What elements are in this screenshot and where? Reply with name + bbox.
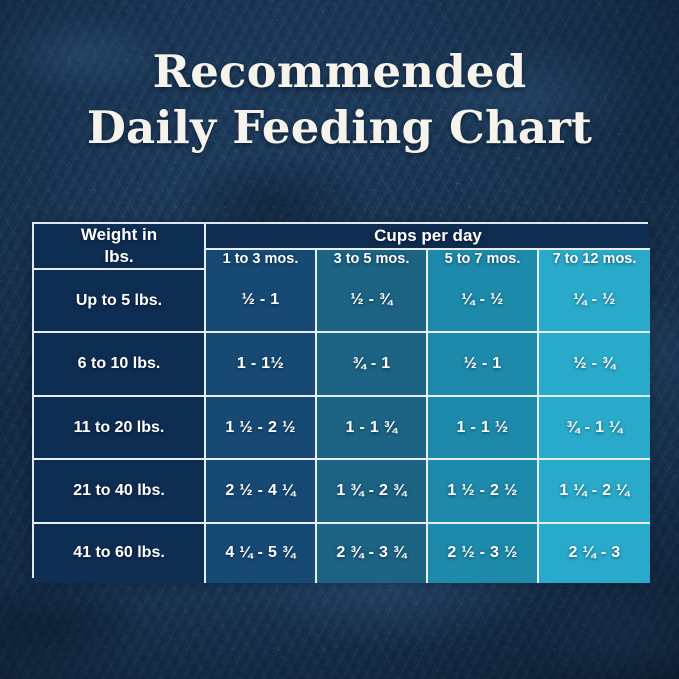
header-month-3-to-5: 3 to 5 mos.	[316, 249, 427, 269]
cell-cups: 1 - 1 ½	[427, 396, 538, 459]
table-row: 41 to 60 lbs. 4 ¼ - 5 ¾ 2 ¾ - 3 ¾ 2 ½ - …	[34, 523, 650, 583]
header-cups-per-day: Cups per day	[205, 224, 650, 249]
header-month-1-to-3: 1 to 3 mos.	[205, 249, 316, 269]
row-weight-label: 41 to 60 lbs.	[34, 523, 205, 583]
cell-cups: 2 ¼ - 3	[538, 523, 650, 583]
row-weight-label: 11 to 20 lbs.	[34, 396, 205, 459]
page-title: Recommended Daily Feeding Chart	[0, 44, 679, 156]
page-title-line-2: Daily Feeding Chart	[0, 100, 679, 156]
cell-cups: 2 ½ - 4 ¼	[205, 459, 316, 522]
page-title-line-1: Recommended	[0, 44, 679, 100]
header-weight-in-lbs: Weight in lbs.	[34, 224, 205, 269]
cell-cups: 1 ½ - 2 ½	[427, 459, 538, 522]
cell-cups: ¼ - ½	[538, 269, 650, 332]
cell-cups: 1 ¾ - 2 ¾	[316, 459, 427, 522]
row-weight-label: Up to 5 lbs.	[34, 269, 205, 332]
table-row: 11 to 20 lbs. 1 ½ - 2 ½ 1 - 1 ¾ 1 - 1 ½ …	[34, 396, 650, 459]
cell-cups: ½ - ¾	[538, 332, 650, 395]
header-month-7-to-12: 7 to 12 mos.	[538, 249, 650, 269]
table-row: 21 to 40 lbs. 2 ½ - 4 ¼ 1 ¾ - 2 ¾ 1 ½ - …	[34, 459, 650, 522]
feeding-chart-table: Weight in lbs. Cups per day 1 to 3 mos. …	[34, 224, 650, 583]
cell-cups: ¾ - 1	[316, 332, 427, 395]
row-weight-label: 21 to 40 lbs.	[34, 459, 205, 522]
header-weight-line-1: Weight in	[81, 225, 157, 244]
cell-cups: ½ - 1	[427, 332, 538, 395]
table-header: Weight in lbs. Cups per day 1 to 3 mos. …	[34, 224, 650, 269]
table-row: 6 to 10 lbs. 1 - 1½ ¾ - 1 ½ - 1 ½ - ¾	[34, 332, 650, 395]
table-row: Up to 5 lbs. ½ - 1 ½ - ¾ ¼ - ½ ¼ - ½	[34, 269, 650, 332]
cell-cups: ½ - 1	[205, 269, 316, 332]
cell-cups: 1 - 1 ¾	[316, 396, 427, 459]
header-month-5-to-7: 5 to 7 mos.	[427, 249, 538, 269]
cell-cups: 1 - 1½	[205, 332, 316, 395]
cell-cups: 2 ¾ - 3 ¾	[316, 523, 427, 583]
header-weight-line-2: lbs.	[104, 247, 133, 266]
cell-cups: ¾ - 1 ¼	[538, 396, 650, 459]
table-body: Up to 5 lbs. ½ - 1 ½ - ¾ ¼ - ½ ¼ - ½ 6 t…	[34, 269, 650, 583]
cell-cups: ¼ - ½	[427, 269, 538, 332]
cell-cups: 2 ½ - 3 ½	[427, 523, 538, 583]
row-weight-label: 6 to 10 lbs.	[34, 332, 205, 395]
table-header-row-group: Weight in lbs. Cups per day	[34, 224, 650, 249]
page-content: Recommended Daily Feeding Chart Weight i…	[0, 0, 679, 679]
cell-cups: 4 ¼ - 5 ¾	[205, 523, 316, 583]
feeding-chart-table-container: Weight in lbs. Cups per day 1 to 3 mos. …	[32, 222, 648, 578]
cell-cups: 1 ¼ - 2 ¼	[538, 459, 650, 522]
cell-cups: ½ - ¾	[316, 269, 427, 332]
cell-cups: 1 ½ - 2 ½	[205, 396, 316, 459]
